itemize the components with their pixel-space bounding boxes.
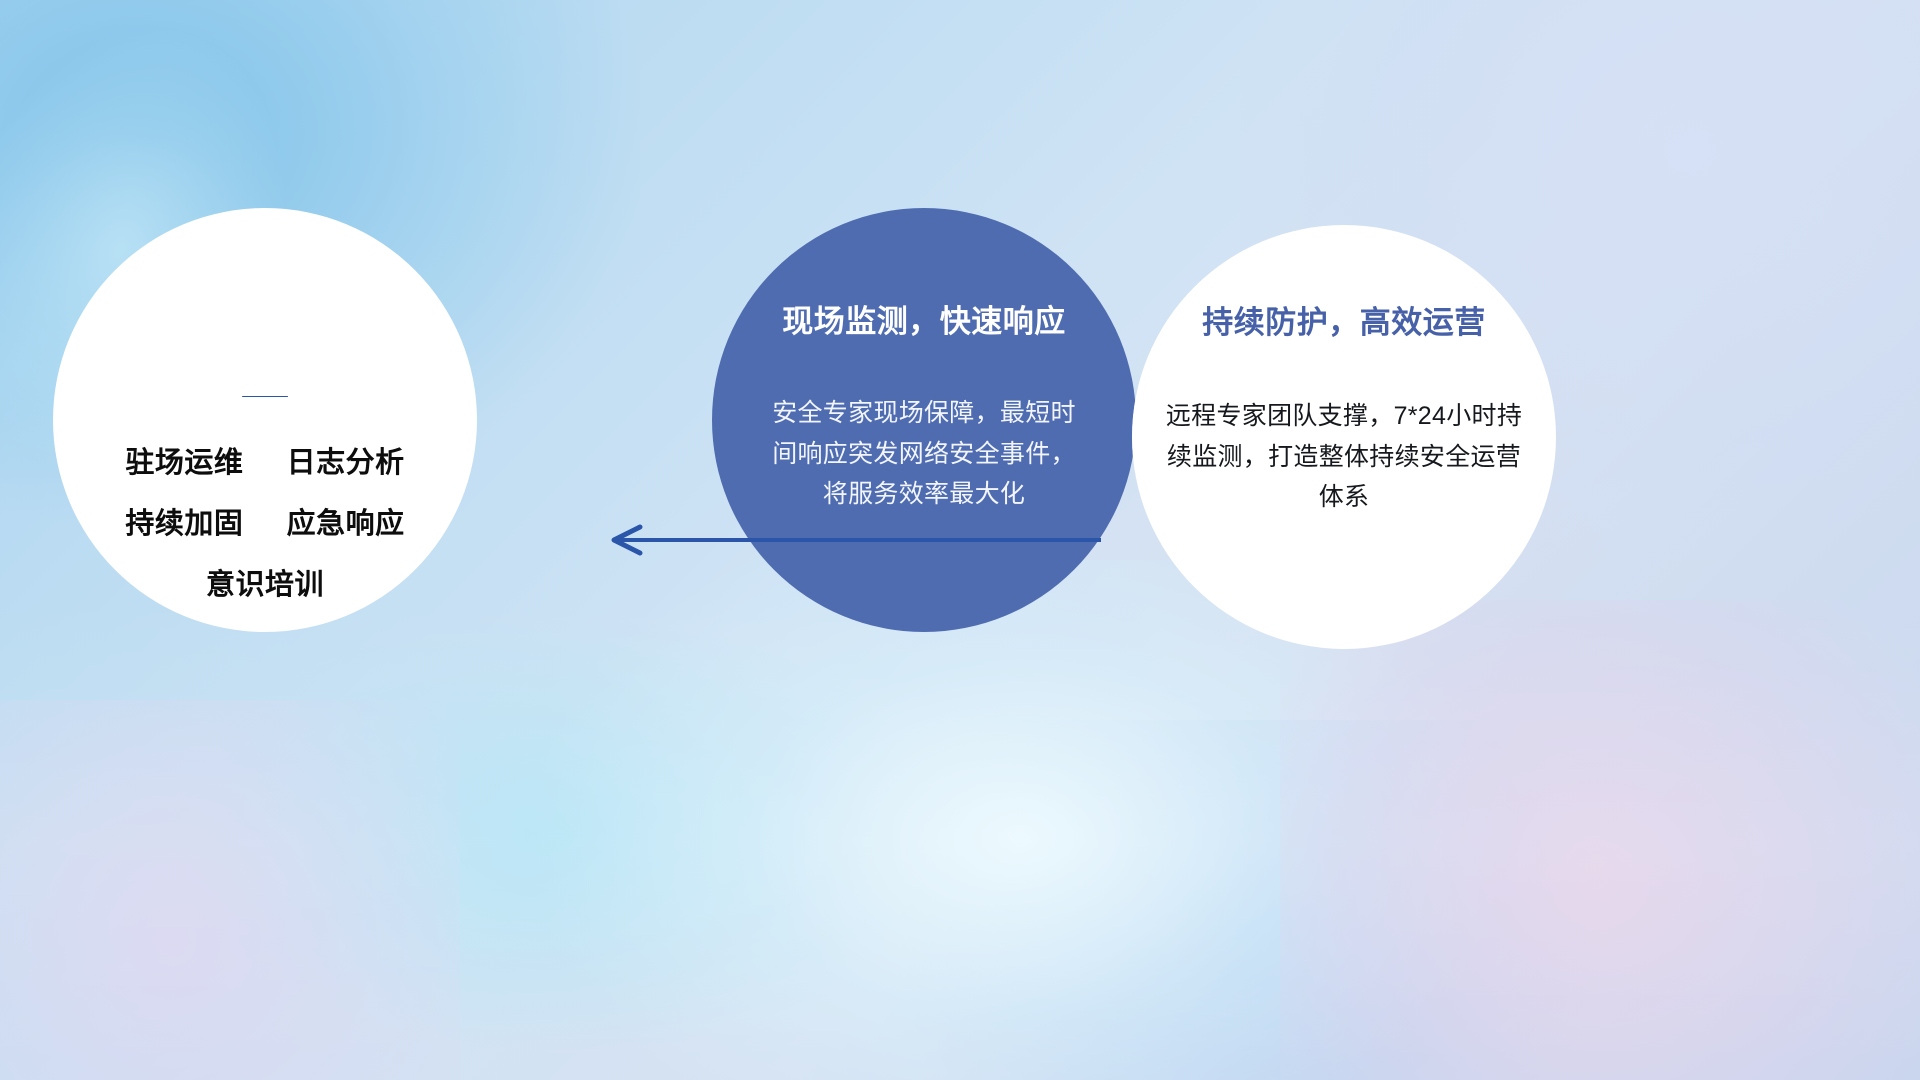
- left-service-row-2: 持续加固 应急响应: [125, 510, 404, 539]
- service-tag-yingjixiangying[interactable]: 应急响应: [287, 508, 405, 540]
- right-circle-body: 远程专家团队支撑，7*24小时持续监测，打造整体持续安全运营体系: [1160, 396, 1528, 518]
- service-tag-chixujiagu[interactable]: 持续加固: [125, 508, 243, 540]
- middle-circle-content: 现场监测，快速响应 安全专家现场保障，最短时间响应突发网络安全事件，将服务效率最…: [712, 208, 1136, 632]
- diagram-stage: 驻场运维 日志分析 持续加固 应急响应 意识培训 现场监测，快速响应 安全专家现…: [0, 0, 1920, 1080]
- left-service-row-3: 意识培训: [206, 571, 324, 600]
- middle-circle-title: 现场监测，快速响应: [782, 306, 1066, 337]
- left-circle-divider: [242, 396, 288, 397]
- service-tag-yishipeixun[interactable]: 意识培训: [206, 569, 324, 601]
- right-circle-content: 持续防护，高效运营 远程专家团队支撑，7*24小时持续监测，打造整体持续安全运营…: [1132, 225, 1556, 649]
- middle-circle-body: 安全专家现场保障，最短时间响应突发网络安全事件，将服务效率最大化: [764, 393, 1084, 515]
- arrow-left-icon: [596, 522, 1106, 558]
- left-circle-content: 驻场运维 日志分析 持续加固 应急响应 意识培训: [53, 208, 477, 632]
- right-circle-title: 持续防护，高效运营: [1202, 307, 1486, 338]
- service-tag-rizhifenxi[interactable]: 日志分析: [287, 447, 405, 479]
- left-service-row-1: 驻场运维 日志分析: [125, 449, 404, 478]
- service-tag-zhuchangyunwei[interactable]: 驻场运维: [125, 447, 243, 479]
